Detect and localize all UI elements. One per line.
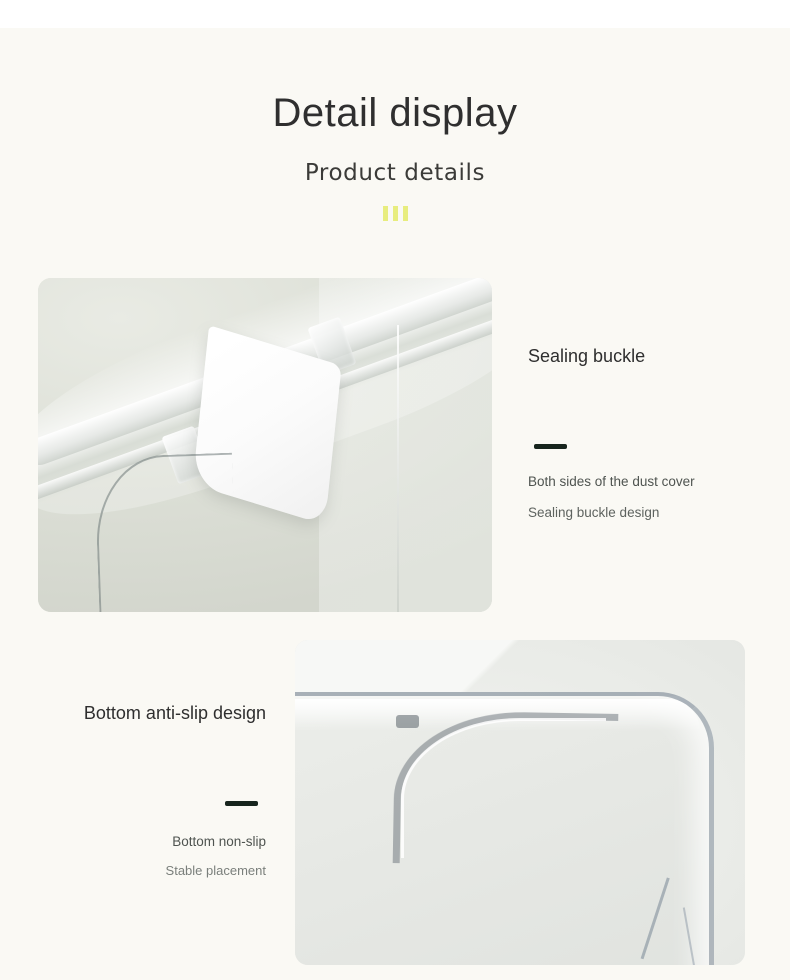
photo-artwork <box>295 640 745 965</box>
container-corner-line <box>397 325 399 612</box>
caption-description-primary: Both sides of the dust cover <box>528 475 763 489</box>
caption-bottom-anti-slip: Bottom anti-slip design Bottom non-slip … <box>20 703 266 878</box>
product-photo-bottom-anti-slip <box>295 640 745 965</box>
decorative-ticks <box>0 206 790 221</box>
photo-artwork <box>38 278 492 612</box>
caption-divider <box>225 801 258 806</box>
tick-mark-icon <box>383 206 388 221</box>
page-header: Detail display Product details <box>0 90 790 221</box>
tick-mark-icon <box>403 206 408 221</box>
caption-title: Bottom anti-slip design <box>20 703 266 725</box>
page-subtitle: Product details <box>0 160 790 186</box>
caption-description-primary: Bottom non-slip <box>20 835 266 849</box>
caption-description-secondary: Stable placement <box>20 863 266 879</box>
product-detail-page: Detail display Product details Sealing b… <box>0 0 790 980</box>
caption-sealing-buckle: Sealing buckle Both sides of the dust co… <box>528 346 763 521</box>
caption-divider <box>534 444 567 449</box>
page-title: Detail display <box>0 90 790 136</box>
caption-title: Sealing buckle <box>528 346 763 368</box>
product-photo-sealing-buckle <box>38 278 492 612</box>
anti-slip-groove-end <box>396 715 419 728</box>
tick-mark-icon <box>393 206 398 221</box>
caption-description-secondary: Sealing buckle design <box>528 505 763 521</box>
